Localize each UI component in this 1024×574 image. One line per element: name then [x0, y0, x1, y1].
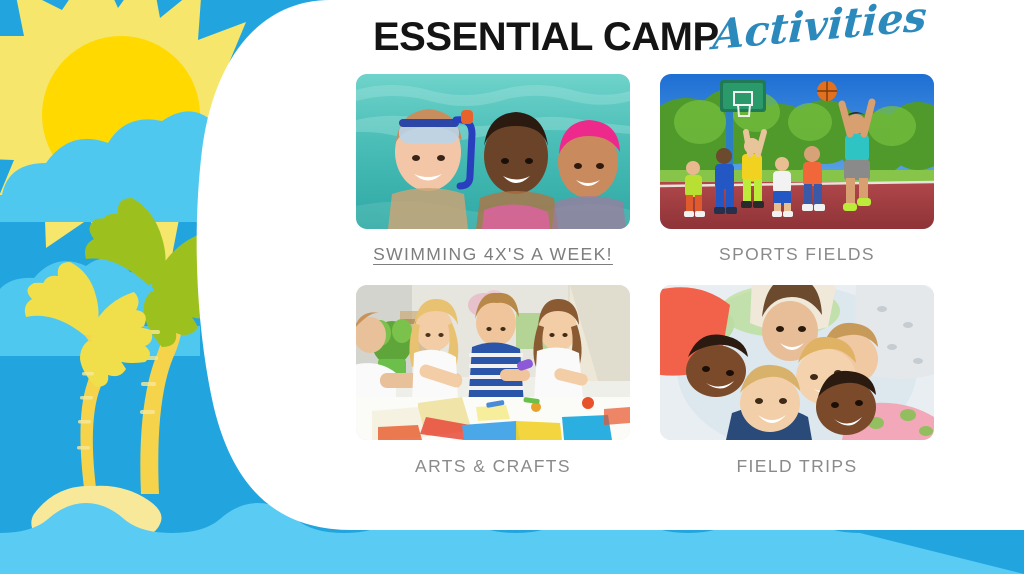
activity-card-sports-fields[interactable]: SPORTS FIELDS — [660, 74, 934, 265]
title-main-text: ESSENTIAL CAMP — [373, 17, 719, 57]
activity-card-arts-crafts[interactable]: ARTS & CRAFTS — [356, 285, 630, 477]
activity-label-sports-fields[interactable]: SPORTS FIELDS — [660, 244, 934, 265]
activity-card-field-trips[interactable]: FIELD TRIPS — [660, 285, 934, 477]
activities-grid: SWIMMING 4X'S A WEEK! — [356, 74, 934, 477]
activity-label-swimming[interactable]: SWIMMING 4X'S A WEEK! — [356, 244, 630, 265]
page-title: ESSENTIAL CAMP Activities — [330, 8, 970, 66]
sports-fields-photo[interactable] — [660, 74, 934, 229]
activity-label-field-trips[interactable]: FIELD TRIPS — [660, 456, 934, 477]
child-blonde — [409, 299, 463, 403]
child-pink-cap — [552, 120, 626, 229]
arts-crafts-photo[interactable] — [356, 285, 630, 440]
activity-label-arts-crafts[interactable]: ARTS & CRAFTS — [356, 456, 630, 477]
swimming-photo[interactable] — [356, 74, 630, 229]
camp-activities-slide: ESSENTIAL CAMP Activities — [0, 0, 1024, 574]
title-script-text: Activities — [712, 0, 928, 56]
field-trips-photo[interactable] — [660, 285, 934, 440]
activity-card-swimming[interactable]: SWIMMING 4X'S A WEEK! — [356, 74, 630, 265]
